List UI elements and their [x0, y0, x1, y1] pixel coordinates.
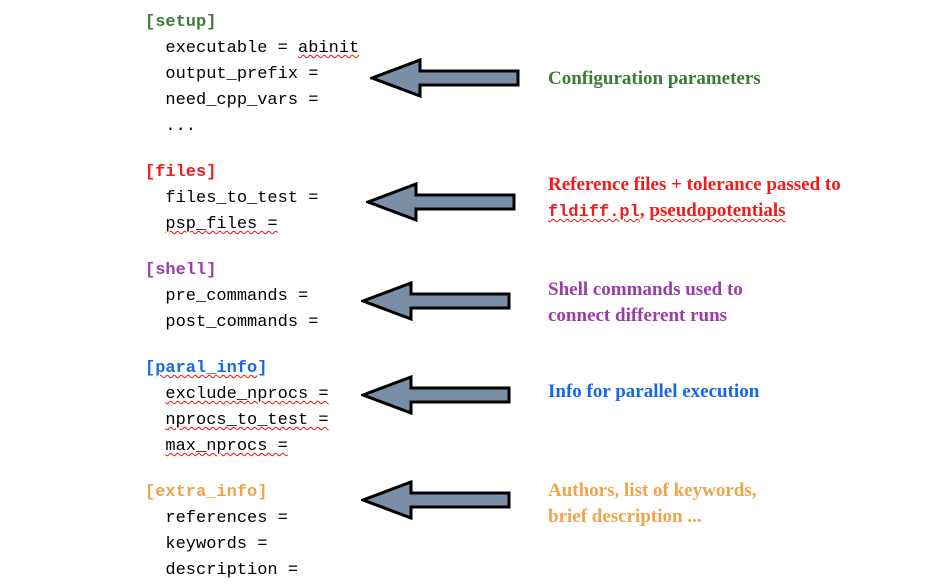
- section-bracket-open: [: [145, 163, 155, 182]
- config-entry: nprocs_to_test =: [145, 408, 375, 434]
- config-key: executable =: [145, 39, 298, 58]
- config-key: post_commands =: [145, 313, 318, 332]
- config-key: need_cpp_vars =: [145, 91, 318, 110]
- config-key: description =: [145, 561, 298, 580]
- section-bracket-open: [: [145, 261, 155, 280]
- section-bracket-close: ]: [206, 13, 216, 32]
- section-name-setup: setup: [155, 13, 206, 32]
- annotation-line: Info for parallel execution: [548, 379, 759, 405]
- annotation-line: connect different runs: [548, 303, 743, 329]
- config-key: keywords =: [145, 535, 267, 554]
- config-section-files: [files] files_to_test = psp_files =: [145, 160, 375, 238]
- config-section-shell: [shell] pre_commands = post_commands =: [145, 258, 375, 336]
- annotation-text: brief description ...: [548, 506, 702, 527]
- config-entry: description =: [145, 558, 375, 584]
- config-section-setup: [setup] executable = abinit output_prefi…: [145, 10, 375, 140]
- files-note: Reference files + tolerance passed tofld…: [548, 172, 841, 226]
- section-bracket-close: ]: [257, 359, 267, 378]
- annotation-text: ,: [640, 200, 650, 221]
- config-key: files_to_test =: [145, 189, 318, 208]
- annotation-text: Configuration parameters: [548, 68, 761, 89]
- paral-note: Info for parallel execution: [548, 379, 759, 405]
- section-name-files: files: [155, 163, 206, 182]
- config-entry: keywords =: [145, 532, 375, 558]
- arrow-files-icon: [366, 182, 516, 222]
- arrow-extra-icon: [361, 480, 511, 520]
- config-entry: files_to_test =: [145, 186, 375, 212]
- section-name-paral_info: paral_info: [155, 359, 257, 378]
- annotation-text: pseudopotentials: [649, 200, 785, 221]
- annotation-line: Reference files + tolerance passed to: [548, 172, 841, 198]
- section-bracket-open: [: [145, 359, 155, 378]
- config-entry: exclude_nprocs =: [145, 382, 375, 408]
- config-key-text: nprocs_to_test =: [165, 411, 328, 430]
- config-section-extra_info: [extra_info] references = keywords = des…: [145, 480, 375, 584]
- section-bracket-close: ]: [257, 483, 267, 502]
- config-entry: psp_files =: [145, 212, 375, 238]
- config-entry: post_commands =: [145, 310, 375, 336]
- section-bracket-close: ]: [206, 163, 216, 182]
- annotation-text: Authors, list of keywords,: [548, 480, 756, 501]
- annotation-line: Authors, list of keywords,: [548, 478, 756, 504]
- section-header-shell: [shell]: [145, 258, 375, 284]
- config-key-text: exclude_nprocs =: [165, 385, 328, 404]
- annotation-code: fldiff.pl: [548, 203, 640, 222]
- annotation-text: connect different runs: [548, 305, 727, 326]
- config-key: pre_commands =: [145, 287, 308, 306]
- config-key: max_nprocs =: [145, 437, 288, 456]
- annotation-text: Reference files + tolerance passed to: [548, 174, 841, 195]
- setup-note: Configuration parameters: [548, 66, 761, 92]
- config-entry: output_prefix =: [145, 62, 375, 88]
- annotation-line: Configuration parameters: [548, 66, 761, 92]
- config-key: nprocs_to_test =: [145, 411, 329, 430]
- section-header-files: [files]: [145, 160, 375, 186]
- config-entry: max_nprocs =: [145, 434, 375, 460]
- annotation-line: Shell commands used to: [548, 277, 743, 303]
- config-entry: references =: [145, 506, 375, 532]
- arrow-setup-icon: [370, 58, 520, 98]
- arrow-paral-icon: [361, 375, 511, 415]
- annotation-line: fldiff.pl, pseudopotentials: [548, 198, 841, 226]
- config-value: abinit: [298, 39, 359, 58]
- extra-note: Authors, list of keywords,brief descript…: [548, 478, 756, 530]
- config-key-text: psp_files =: [165, 215, 277, 234]
- arrow-shape: [372, 60, 518, 96]
- config-key: exclude_nprocs =: [145, 385, 329, 404]
- config-key: ...: [145, 117, 196, 136]
- shell-note: Shell commands used toconnect different …: [548, 277, 743, 329]
- section-header-extra_info: [extra_info]: [145, 480, 375, 506]
- config-key: output_prefix =: [145, 65, 318, 84]
- section-bracket-open: [: [145, 13, 155, 32]
- arrow-shape: [363, 283, 509, 319]
- annotation-line: brief description ...: [548, 504, 756, 530]
- config-key: psp_files =: [145, 215, 278, 234]
- section-name-shell: shell: [155, 261, 206, 280]
- arrow-shape: [363, 377, 509, 413]
- config-entry: pre_commands =: [145, 284, 375, 310]
- config-entry: ...: [145, 114, 375, 140]
- section-name-extra_info: extra_info: [155, 483, 257, 502]
- arrow-shape: [363, 482, 509, 518]
- section-header-paral_info: [paral_info]: [145, 356, 375, 382]
- slide-canvas: [setup] executable = abinit output_prefi…: [0, 0, 944, 551]
- section-header-setup: [setup]: [145, 10, 375, 36]
- arrow-shell-icon: [361, 281, 511, 321]
- config-key-text: max_nprocs =: [165, 437, 287, 456]
- config-key: references =: [145, 509, 288, 528]
- config-file-listing: [setup] executable = abinit output_prefi…: [145, 10, 375, 584]
- section-bracket-close: ]: [206, 261, 216, 280]
- config-entry: executable = abinit: [145, 36, 375, 62]
- annotation-text: Info for parallel execution: [548, 381, 759, 402]
- arrow-shape: [368, 184, 514, 220]
- config-entry: need_cpp_vars =: [145, 88, 375, 114]
- annotation-text: Shell commands used to: [548, 279, 743, 300]
- section-bracket-open: [: [145, 483, 155, 502]
- config-section-paral_info: [paral_info] exclude_nprocs = nprocs_to_…: [145, 356, 375, 460]
